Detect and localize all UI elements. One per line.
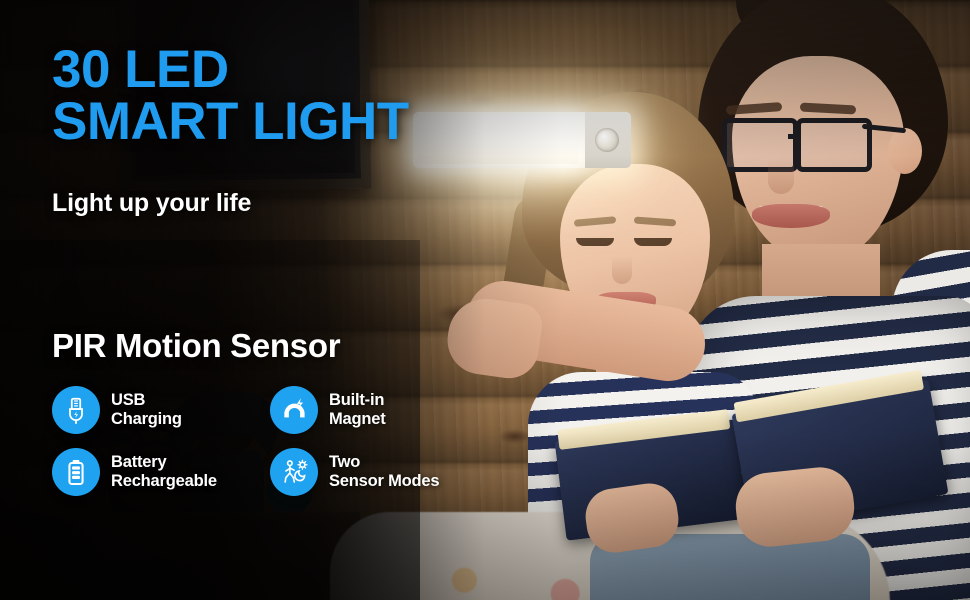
headline-line-2: SMART LIGHT [52,96,409,148]
feature-list: USB Charging Built-in [52,386,482,510]
feature-label-line-2: Charging [111,410,182,429]
feature-battery-rechargeable: Battery Rechargeable [52,448,256,496]
feature-two-sensor-modes: Two Sensor Modes [270,448,474,496]
tagline: Light up your life [52,189,251,218]
feature-label: Two Sensor Modes [329,453,439,491]
usb-charging-icon [52,386,100,434]
feature-label: Battery Rechargeable [111,453,217,491]
feature-label-line-2: Magnet [329,410,386,429]
battery-icon [52,448,100,496]
feature-row: USB Charging Built-in [52,386,482,434]
feature-usb-charging: USB Charging [52,386,256,434]
magnet-icon [270,386,318,434]
feature-label-line-1: USB [111,391,182,410]
feature-label: Built-in Magnet [329,391,386,429]
sensor-modes-icon [270,448,318,496]
headline-line-1: 30 LED [52,40,229,99]
feature-label-line-1: Two [329,453,439,472]
feature-label-line-2: Sensor Modes [329,472,439,491]
feature-label-line-1: Built-in [329,391,386,410]
feature-label-line-2: Rechargeable [111,472,217,491]
product-banner: 30 LED SMART LIGHT Light up your life PI… [0,0,970,600]
section-title: PIR Motion Sensor [52,327,340,365]
feature-built-in-magnet: Built-in Magnet [270,386,474,434]
page-title: 30 LED SMART LIGHT [52,44,409,148]
feature-row: Battery Rechargeable [52,448,482,496]
text-overlay: 30 LED SMART LIGHT Light up your life PI… [0,0,970,600]
feature-label: USB Charging [111,391,182,429]
feature-label-line-1: Battery [111,453,217,472]
